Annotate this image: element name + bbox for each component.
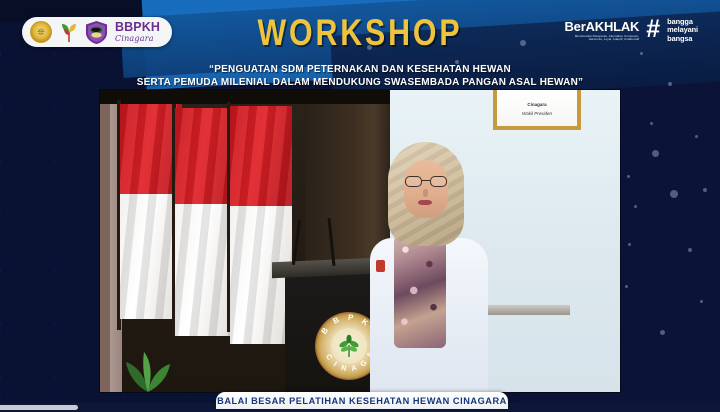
wall-framed-portrait: Cinagara Wakil Presiden [493, 90, 581, 130]
presenter-mouth [418, 200, 432, 205]
video-left-wall-shadow [100, 90, 110, 392]
bottom-banner: BALAI BESAR PELATIHAN KESEHATAN HEWAN CI… [216, 392, 508, 409]
scarf-floral-pattern [394, 228, 446, 348]
presenter-figure [368, 132, 488, 392]
berakhlak-logo-group: BerAKHLAK Berorientasi Pelayanan, Akunta… [563, 18, 698, 43]
plant-leaf-icon [59, 21, 79, 43]
eyeglasses-icon [404, 176, 448, 187]
institution-logo-pill: ❊ BBPKH Cinagara [22, 17, 172, 47]
presenter-name-badge [376, 260, 385, 272]
bottom-banner-text: BALAI BESAR PELATIHAN KESEHATAN HEWAN CI… [217, 396, 507, 406]
flag-fold-shading [230, 106, 292, 344]
eyeglass-bridge [422, 180, 430, 181]
video-player-surface[interactable]: Cinagara Wakil Presiden [100, 90, 620, 392]
berakhlak-wordmark: BerAKHLAK [563, 20, 639, 33]
screen-root: ❊ BBPKH Cinagara WORKSHOP “PENGUA [0, 0, 720, 412]
potted-plant-decor [118, 340, 178, 392]
berakhlak-tagline: Berorientasi Pelayanan, Akuntabel, Kompe… [563, 35, 639, 42]
presenter-nose [423, 189, 428, 197]
institution-logo-text: BBPKH Cinagara [115, 21, 160, 43]
slogan-line-3: bangsa [667, 35, 698, 43]
purple-shield-cow-icon [86, 21, 107, 44]
wall-frame-caption-line1: Cinagara [497, 102, 577, 107]
indonesia-flag-3 [230, 106, 292, 344]
berakhlak-wordmark-block: BerAKHLAK Berorientasi Pelayanan, Akunta… [563, 20, 639, 42]
wall-frame-caption-line2: Wakil Presiden [497, 111, 577, 116]
gold-ministry-emblem-icon: ❊ [30, 21, 52, 43]
institution-name-abbrev: BBPKH [115, 21, 160, 34]
eyeglass-lens-left [405, 176, 422, 187]
page-subtitle: “PENGUATAN SDM PETERNAKAN DAN KESEHATAN … [18, 63, 702, 89]
presenter-floral-scarf [394, 228, 446, 348]
bangga-melayani-bangsa-slogan: bangga melayani bangsa [667, 18, 698, 43]
playback-progress-bar[interactable] [0, 405, 78, 410]
hashtag-icon: # [646, 17, 660, 42]
eyeglass-lens-right [430, 176, 447, 187]
page-subtitle-line1: “PENGUATAN SDM PETERNAKAN DAN KESEHATAN … [18, 63, 702, 76]
institution-name-branch: Cinagara [115, 35, 160, 43]
page-subtitle-line2: SERTA PEMUDA MILENIAL DALAM MENDUKUNG SW… [18, 76, 702, 89]
